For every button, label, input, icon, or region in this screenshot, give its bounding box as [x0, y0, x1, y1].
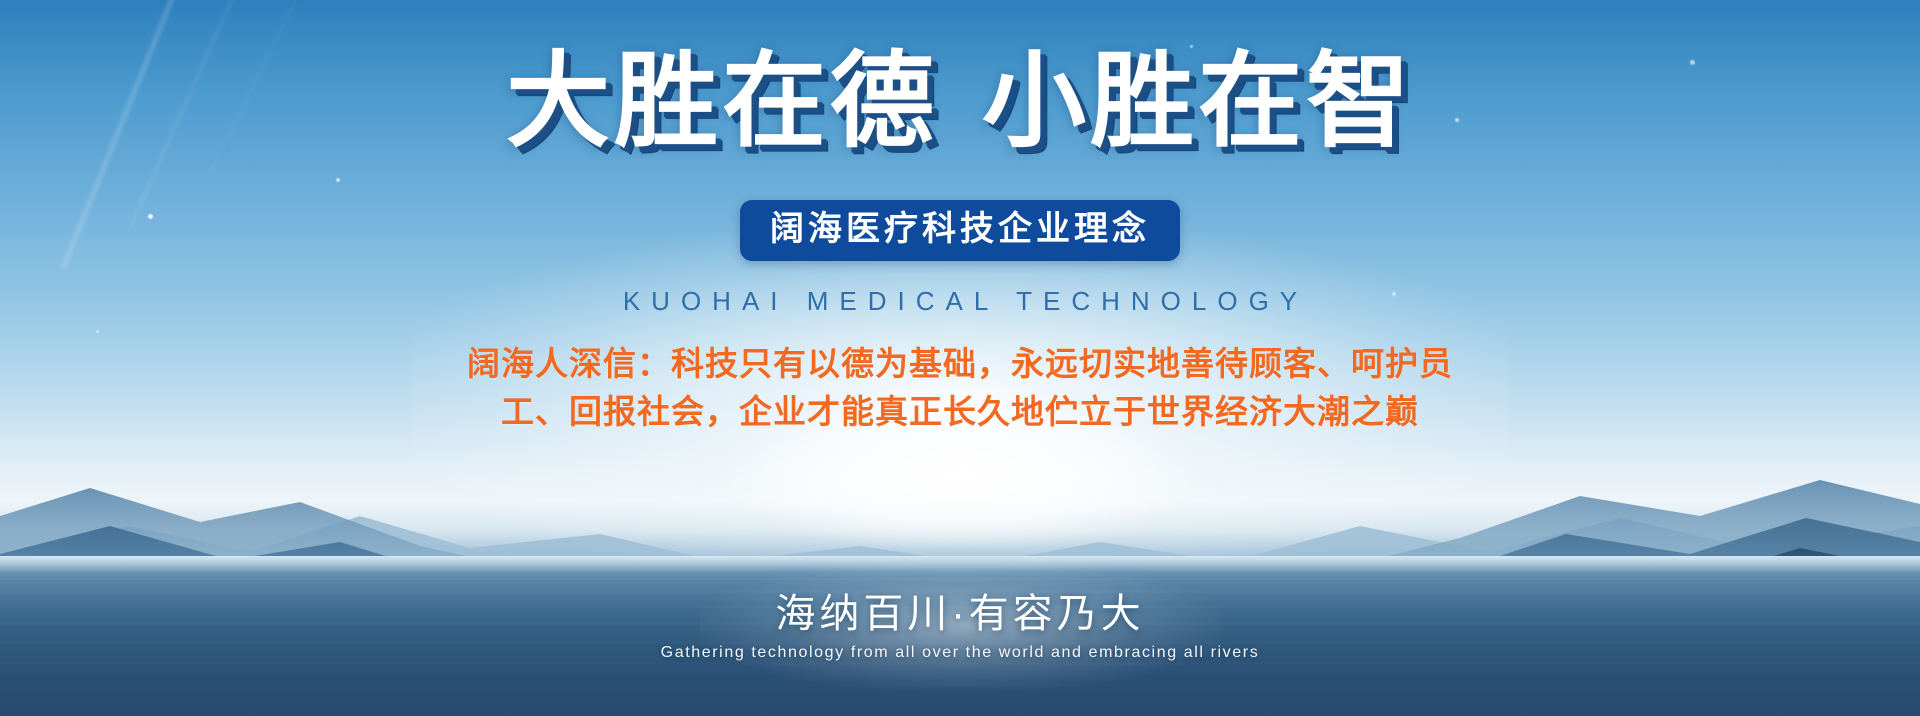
philosophy-paragraph: 阔海人深信：科技只有以德为基础，永远切实地善待顾客、呵护员 工、回报社会，企业才…	[0, 340, 1920, 435]
headline: 大胜在德小胜在智	[0, 50, 1920, 154]
footer-slogan-cn: 海纳百川·有容乃大	[0, 590, 1920, 638]
hero-banner: 大胜在德小胜在智 阔海医疗科技企业理念 KUOHAI MEDICAL TECHN…	[0, 0, 1920, 716]
philosophy-line-2: 工、回报社会，企业才能真正长久地伫立于世界经济大潮之巅	[0, 388, 1920, 436]
headline-right: 小胜在智	[982, 44, 1414, 160]
english-subtitle: KUOHAI MEDICAL TECHNOLOGY	[0, 286, 1920, 317]
philosophy-line-1: 阔海人深信：科技只有以德为基础，永远切实地善待顾客、呵护员	[0, 340, 1920, 388]
headline-left: 大胜在德	[506, 44, 938, 160]
footer-slogan-en: Gathering technology from all over the w…	[0, 644, 1920, 662]
footer-slogan: 海纳百川·有容乃大 Gathering technology from all …	[0, 590, 1920, 662]
banner-content: 大胜在德小胜在智 阔海医疗科技企业理念 KUOHAI MEDICAL TECHN…	[0, 0, 1920, 716]
badge-container: 阔海医疗科技企业理念	[0, 200, 1920, 261]
company-concept-badge: 阔海医疗科技企业理念	[740, 200, 1180, 261]
